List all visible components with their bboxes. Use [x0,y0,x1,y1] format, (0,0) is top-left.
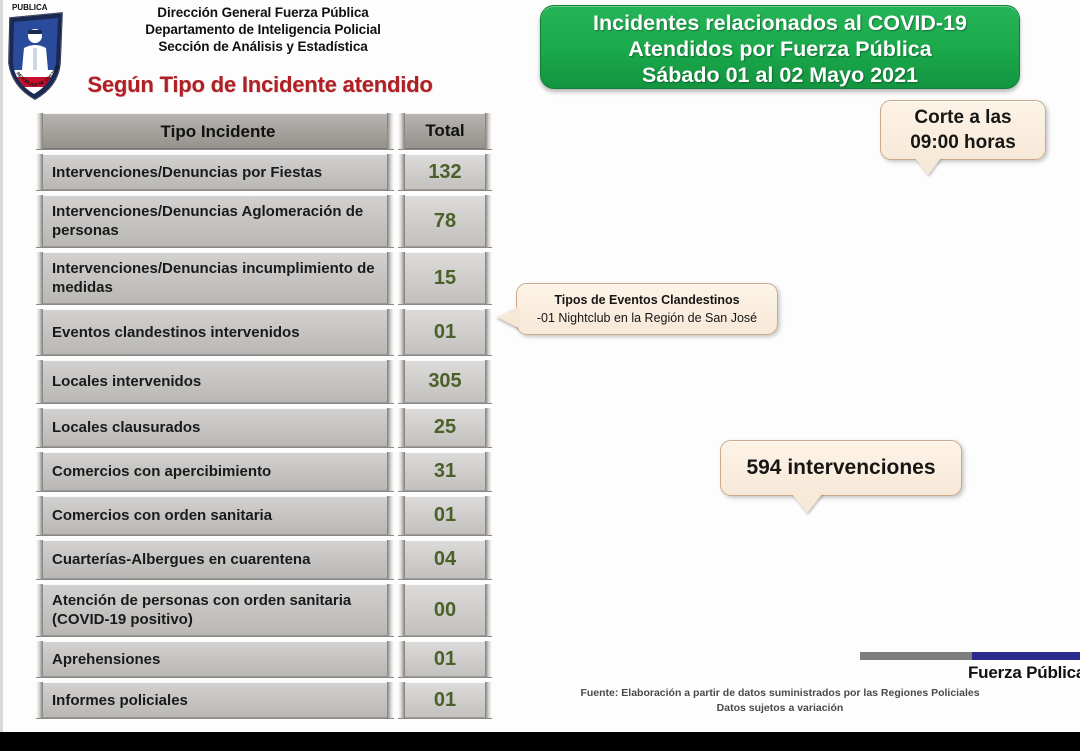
left-edge-strip [0,0,3,732]
row-label: Eventos clandestinos intervenidos [36,308,394,356]
row-total: 01 [398,495,492,536]
org-line-2: Departamento de Inteligencia Policial [78,21,448,38]
logo-top-text: PUBLICA [12,3,48,12]
row-total: 01 [398,308,492,356]
row-total: 25 [398,407,492,448]
callout-tail-icon [497,306,519,328]
callout-clandestine-events: Tipos de Eventos Clandestinos -01 Nightc… [516,283,778,335]
row-total: 132 [398,153,492,191]
row-label: Locales intervenidos [36,359,394,404]
clandestine-detail: -01 Nightclub en la Región de San José [523,309,771,327]
banner-line-1: Incidentes relacionados al COVID-19 [541,10,1019,36]
callout-cutoff-time: Corte a las 09:00 horas [880,100,1046,160]
row-label: Comercios con orden sanitaria [36,495,394,536]
table-row: Locales clausurados 25 [36,407,492,448]
banner-line-2: Atendidos por Fuerza Pública [541,36,1019,62]
callout-total-interventions: 594 intervenciones [720,440,962,496]
row-label: Informes policiales [36,681,394,719]
bottom-letterbox-bar [0,732,1080,751]
incident-table: Tipo Incidente Total Intervenciones/Denu… [36,112,492,722]
source-line-1: Fuente: Elaboración a partir de datos su… [560,686,1000,701]
row-label: Locales clausurados [36,407,394,448]
footer-bar-gray [860,652,972,660]
cutoff-line-1: Corte a las [881,105,1045,130]
table-row: Aprehensiones 01 [36,640,492,678]
row-total: 15 [398,251,492,305]
callout-tail-icon [915,158,941,175]
row-label: Intervenciones/Denuncias incumplimiento … [36,251,394,305]
table-row: Cuarterías-Albergues en cuarentena 04 [36,539,492,580]
total-interventions-value: 594 intervenciones [721,456,961,480]
table-row: Intervenciones/Denuncias incumplimiento … [36,251,492,305]
clandestine-title: Tipos de Eventos Clandestinos [523,291,771,309]
source-line-2: Datos sujetos a variación [560,701,1000,716]
slide-canvas: PUBLICA REPÚBLICA DE COSTA RICA Direcció… [0,0,1080,751]
table-row: Comercios con apercibimiento 31 [36,451,492,492]
row-total: 31 [398,451,492,492]
row-label: Cuarterías-Albergues en cuarentena [36,539,394,580]
table-row: Comercios con orden sanitaria 01 [36,495,492,536]
column-header-total: Total [398,112,492,150]
section-title: Según Tipo de Incidente atendido [60,72,460,98]
row-total: 01 [398,640,492,678]
source-note: Fuente: Elaboración a partir de datos su… [560,686,1000,716]
table-row: Locales intervenidos 305 [36,359,492,404]
footer-brand-text: Fuerza Pública [968,663,1080,683]
footer-brand: Fuerza Pública [860,652,1080,686]
cutoff-line-2: 09:00 horas [881,130,1045,155]
row-label: Intervenciones/Denuncias por Fiestas [36,153,394,191]
table-row: Eventos clandestinos intervenidos 01 [36,308,492,356]
column-header-tipo-incidente: Tipo Incidente [36,112,394,150]
row-label: Atención de personas con orden sanitaria… [36,583,394,637]
row-total: 00 [398,583,492,637]
banner-line-3: Sábado 01 al 02 Mayo 2021 [541,62,1019,88]
table-row: Intervenciones/Denuncias Aglomeración de… [36,194,492,248]
table-row: Intervenciones/Denuncias por Fiestas 132 [36,153,492,191]
table-row: Informes policiales 01 [36,681,492,719]
org-line-3: Sección de Análisis y Estadística [78,38,448,55]
org-line-1: Dirección General Fuerza Pública [78,4,448,21]
row-total: 01 [398,681,492,719]
organization-header: Dirección General Fuerza Pública Departa… [78,4,448,55]
row-total: 78 [398,194,492,248]
table-row: Atención de personas con orden sanitaria… [36,583,492,637]
callout-tail-icon [791,493,823,513]
row-total: 305 [398,359,492,404]
row-label: Aprehensiones [36,640,394,678]
table-header-row: Tipo Incidente Total [36,112,492,150]
main-title-banner: Incidentes relacionados al COVID-19 Aten… [540,5,1020,89]
footer-bar-blue [972,652,1080,660]
row-label: Intervenciones/Denuncias Aglomeración de… [36,194,394,248]
row-label: Comercios con apercibimiento [36,451,394,492]
row-total: 04 [398,539,492,580]
